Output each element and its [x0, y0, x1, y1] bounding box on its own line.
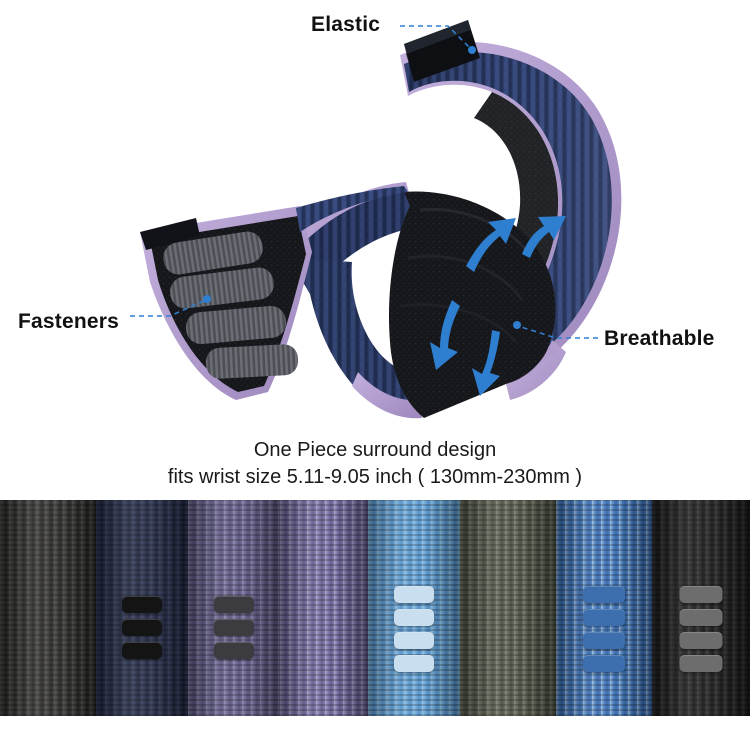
swatch-hook-patches: [583, 586, 625, 672]
bottom-whitespace: [0, 716, 750, 750]
swatch-hook-patch: [394, 655, 434, 672]
swatch-hook-patch: [583, 586, 625, 603]
color-swatch[interactable]: [460, 500, 556, 716]
swatch-hook-patch: [583, 632, 625, 649]
swatch-shading: [280, 500, 368, 716]
color-swatch[interactable]: [368, 500, 460, 716]
color-swatch[interactable]: [0, 500, 96, 716]
callout-label-elastic: Elastic: [311, 13, 380, 37]
swatch-hook-patch: [680, 586, 723, 603]
swatch-hook-patch: [394, 586, 434, 603]
color-swatch[interactable]: [188, 500, 280, 716]
swatch-shading: [460, 500, 556, 716]
swatch-shading: [0, 500, 96, 716]
swatch-hook-patch: [214, 619, 254, 636]
callout-label-breathable: Breathable: [604, 327, 715, 351]
swatch-hook-patches: [122, 596, 162, 659]
caption-line-2: fits wrist size 5.11-9.05 inch ( 130mm-2…: [0, 464, 750, 490]
swatch-hook-patch: [680, 632, 723, 649]
swatch-hook-patches: [680, 586, 723, 672]
swatch-hook-patch: [583, 609, 625, 626]
color-swatch[interactable]: [280, 500, 368, 716]
swatch-hook-patch: [214, 596, 254, 613]
color-swatch[interactable]: [652, 500, 750, 716]
swatch-hook-patches: [394, 586, 434, 672]
swatch-hook-patch: [122, 642, 162, 659]
swatch-hook-patch: [394, 632, 434, 649]
product-photo: Elastic Fasteners Breathable One Piece s…: [0, 0, 750, 500]
swatch-hook-patch: [122, 596, 162, 613]
color-swatch[interactable]: [556, 500, 652, 716]
swatch-hook-patch: [394, 609, 434, 626]
color-swatch[interactable]: [96, 500, 188, 716]
color-variant-strip: [0, 500, 750, 716]
swatch-hook-patch: [214, 642, 254, 659]
swatch-hook-patch: [122, 619, 162, 636]
callout-label-fasteners: Fasteners: [18, 310, 119, 334]
product-infographic: Elastic Fasteners Breathable One Piece s…: [0, 0, 750, 750]
caption-line-1: One Piece surround design: [0, 437, 750, 463]
watch-band-illustration: [0, 0, 750, 500]
swatch-hook-patch: [680, 609, 723, 626]
swatch-hook-patch: [583, 655, 625, 672]
swatch-hook-patches: [214, 596, 254, 659]
swatch-hook-patch: [680, 655, 723, 672]
